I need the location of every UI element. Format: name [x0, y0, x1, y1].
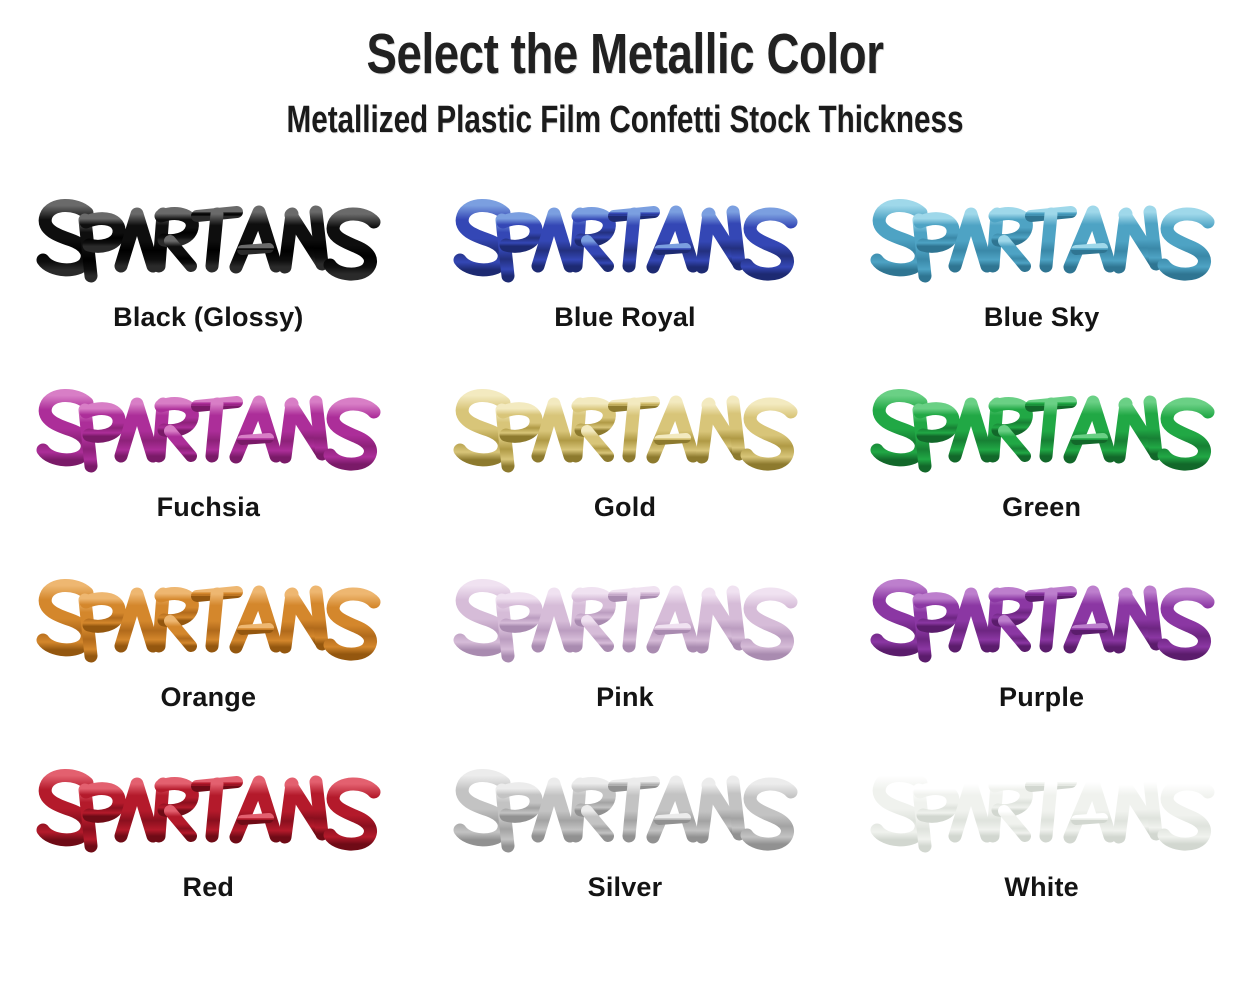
color-swatch-label: Silver [588, 872, 663, 903]
color-swatch-blue-sky[interactable]: Blue Sky [833, 190, 1250, 380]
color-swatch-label: Fuchsia [157, 492, 260, 523]
color-swatch-label: Red [183, 872, 235, 903]
spartans-wordmark-image[interactable] [867, 380, 1217, 480]
color-swatch-label: Purple [999, 682, 1084, 713]
metallic-color-selection-page: Select the Metallic Color Metallized Pla… [0, 0, 1250, 1000]
color-swatch-label: Green [1002, 492, 1081, 523]
color-swatch-gold[interactable]: Gold [417, 380, 834, 570]
page-header: Select the Metallic Color Metallized Pla… [0, 0, 1250, 139]
color-swatch-label: Blue Royal [554, 302, 696, 333]
spartans-wordmark-image[interactable] [33, 190, 383, 290]
color-swatch-label: Black (Glossy) [113, 302, 303, 333]
color-swatch-label: Blue Sky [984, 302, 1100, 333]
spartans-wordmark-image[interactable] [33, 380, 383, 480]
color-swatch-red[interactable]: Red [0, 760, 417, 950]
spartans-wordmark-image[interactable] [450, 760, 800, 860]
page-title: Select the Metallic Color [125, 26, 1125, 83]
spartans-wordmark-image[interactable] [33, 570, 383, 670]
color-swatch-silver[interactable]: Silver [417, 760, 834, 950]
color-swatch-label: Gold [594, 492, 656, 523]
color-swatch-white[interactable]: White [833, 760, 1250, 950]
color-swatch-label: Orange [160, 682, 256, 713]
spartans-wordmark-image[interactable] [33, 760, 383, 860]
color-swatch-label: Pink [596, 682, 654, 713]
color-swatch-blue-royal[interactable]: Blue Royal [417, 190, 834, 380]
color-swatch-purple[interactable]: Purple [833, 570, 1250, 760]
spartans-wordmark-image[interactable] [450, 380, 800, 480]
color-swatch-label: White [1004, 872, 1079, 903]
spartans-wordmark-image[interactable] [450, 570, 800, 670]
color-swatch-grid: Black (Glossy)Blue RoyalBlue SkyFuchsiaG… [0, 190, 1250, 950]
color-swatch-fuchsia[interactable]: Fuchsia [0, 380, 417, 570]
spartans-wordmark-image[interactable] [867, 570, 1217, 670]
spartans-wordmark-image[interactable] [450, 190, 800, 290]
color-swatch-green[interactable]: Green [833, 380, 1250, 570]
color-swatch-black-glossy[interactable]: Black (Glossy) [0, 190, 417, 380]
spartans-wordmark-image[interactable] [867, 190, 1217, 290]
color-swatch-orange[interactable]: Orange [0, 570, 417, 760]
color-swatch-pink[interactable]: Pink [417, 570, 834, 760]
page-subtitle: Metallized Plastic Film Confetti Stock T… [138, 101, 1113, 139]
spartans-wordmark-image[interactable] [867, 760, 1217, 860]
